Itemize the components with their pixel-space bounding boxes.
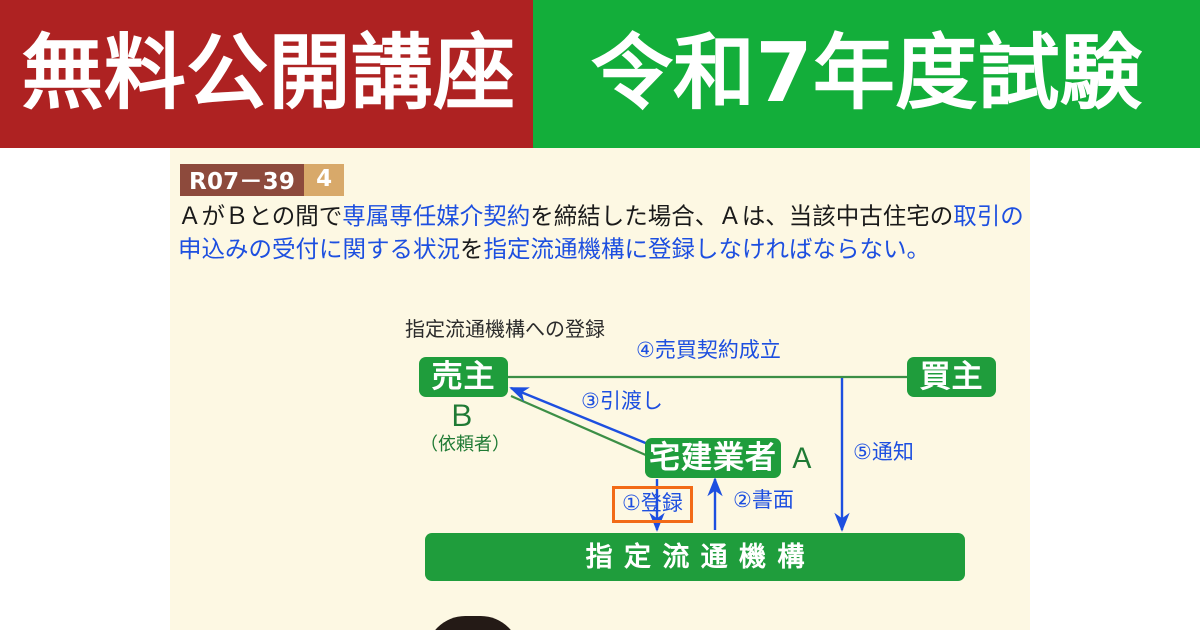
node-agent-label: 宅建業者	[649, 443, 777, 474]
diagram-title: 指定流通機構への登録	[405, 313, 605, 342]
node-buyer-label: 買主	[920, 362, 984, 393]
label-seller-role: （依頼者）	[420, 436, 510, 454]
label-arrow-4: ④売買契約成立	[636, 340, 781, 361]
node-real-estate-agent: 宅建業者	[645, 438, 781, 478]
node-designated-distribution-organization: 指定流通機構	[425, 533, 965, 581]
node-seller-label: 売主	[432, 362, 496, 393]
node-organization-label: 指定流通機構	[574, 544, 815, 571]
instructor-photo	[368, 610, 578, 630]
banner-exam-year: 令和7年度試験	[533, 0, 1200, 148]
content-panel: R07－39 4 ＡがＢとの間で専属専任媒介契約を締結した場合、Ａは、当該中古住…	[170, 148, 1030, 630]
label-arrow-2: ②書面	[733, 490, 794, 511]
slide-root: 無料公開講座 令和7年度試験 R07－39 4 ＡがＢとの間で専属専任媒介契約を…	[0, 0, 1200, 630]
relationship-diagram: 指定流通機構への登録 売主 買主 宅建業者 指定流通機構 Ｂ （依頼者） Ａ ④…	[170, 148, 1030, 630]
banner-free-course: 無料公開講座	[0, 0, 533, 148]
label-arrow-5: ⑤通知	[853, 442, 914, 463]
label-agent-party: Ａ	[788, 445, 816, 473]
banner-free-course-label: 無料公開講座	[18, 33, 516, 115]
label-seller-party: Ｂ	[447, 402, 476, 431]
label-arrow-1-highlighted: ①登録	[612, 486, 693, 523]
banner-exam-year-label: 令和7年度試験	[591, 33, 1142, 115]
label-arrow-3: ③引渡し	[581, 391, 663, 412]
node-seller: 売主	[419, 357, 508, 397]
node-buyer: 買主	[907, 357, 996, 397]
instructor-hair	[426, 616, 520, 630]
